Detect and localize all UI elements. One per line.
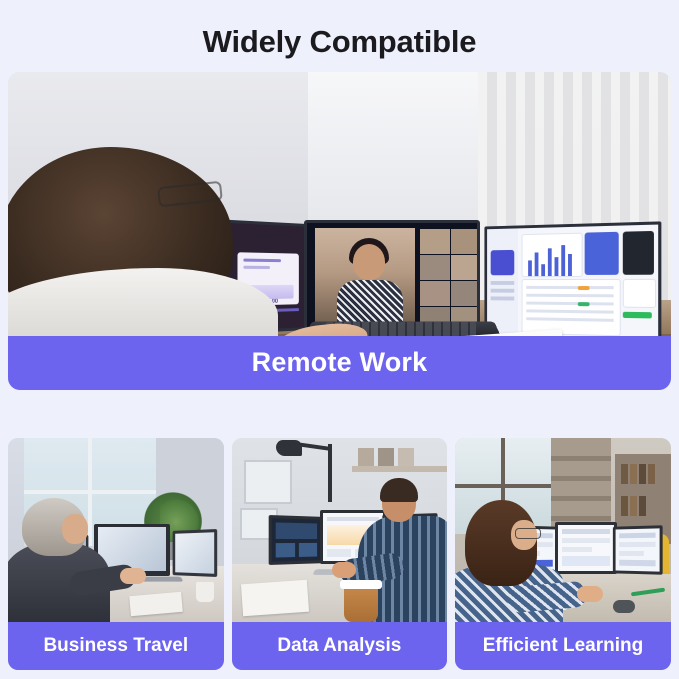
hero-card: $1,278.00: [8, 72, 671, 390]
hero-dashboard-positive-badge: [623, 311, 652, 318]
card2-person-hand: [332, 562, 356, 578]
card-photo-data-analysis: [232, 438, 448, 622]
card1-person-face: [62, 514, 88, 544]
use-case-card-row: Business Travel: [8, 438, 671, 670]
use-case-card-data-analysis: Data Analysis: [232, 438, 448, 670]
hero-call-main-speaker: [315, 228, 415, 328]
card-caption-efficient-learning: Efficient Learning: [455, 622, 671, 670]
hero-call-thumbnail: [450, 254, 480, 281]
hero-dashboard-table: [522, 279, 621, 336]
hero-dashboard-stat-card: [585, 231, 619, 274]
card-caption-business-travel: Business Travel: [8, 622, 224, 670]
card-caption-data-analysis: Data Analysis: [232, 622, 448, 670]
card2-wall-frame: [244, 460, 292, 504]
card3-person-hand: [577, 586, 603, 602]
card2-lamp-pole: [328, 444, 332, 502]
card2-coffee-cup: [344, 584, 378, 622]
card3-person-glasses: [515, 528, 541, 539]
hero-dashboard-logo: [491, 250, 515, 275]
product-feature-graphic: Widely Compatible $1,278.00: [0, 0, 679, 679]
hero-dashboard-widget: [623, 279, 656, 308]
hero-dashboard-bar-chart: [522, 232, 583, 276]
card2-shelf-box: [378, 448, 394, 466]
hero-call-thumbnail: [419, 280, 451, 307]
page-title: Widely Compatible: [0, 0, 679, 72]
hero-center-screen-video-call: [304, 220, 480, 336]
card2-lamp-head: [276, 440, 302, 456]
card2-person-hair: [380, 478, 418, 502]
hero-call-thumbnail: [419, 254, 451, 281]
card1-laptop-display: [98, 527, 166, 571]
card3-center-screen-display: [558, 525, 614, 571]
hero-right-screen-dashboard: [484, 221, 661, 336]
card2-left-screen-display: [271, 518, 320, 561]
card2-papers: [241, 580, 309, 617]
hero-window: [308, 72, 488, 222]
card1-cup: [196, 582, 214, 602]
hero-call-thumbnail: [450, 228, 480, 255]
card2-shelf: [352, 466, 448, 472]
use-case-card-business-travel: Business Travel: [8, 438, 224, 670]
hero-caption: Remote Work: [8, 336, 671, 390]
hero-dashboard-stat-card-dark: [623, 231, 654, 275]
card2-coffee-lid: [340, 580, 382, 589]
hero-speaker-face: [353, 244, 385, 280]
card1-right-screen-display: [175, 532, 214, 573]
card1-person-hand: [120, 568, 146, 584]
card3-mouse: [613, 600, 635, 613]
card3-right-screen-display: [616, 528, 660, 571]
use-case-card-efficient-learning: Efficient Learning: [455, 438, 671, 670]
hero-call-thumbnail: [419, 228, 451, 255]
card-photo-business-travel: [8, 438, 224, 622]
hero-call-thumbnail: [450, 280, 480, 307]
card2-shelf-box: [358, 448, 374, 466]
card2-shelf-box: [398, 448, 414, 466]
card-photo-efficient-learning: [455, 438, 671, 622]
hero-photo-remote-work: $1,278.00: [8, 72, 671, 336]
